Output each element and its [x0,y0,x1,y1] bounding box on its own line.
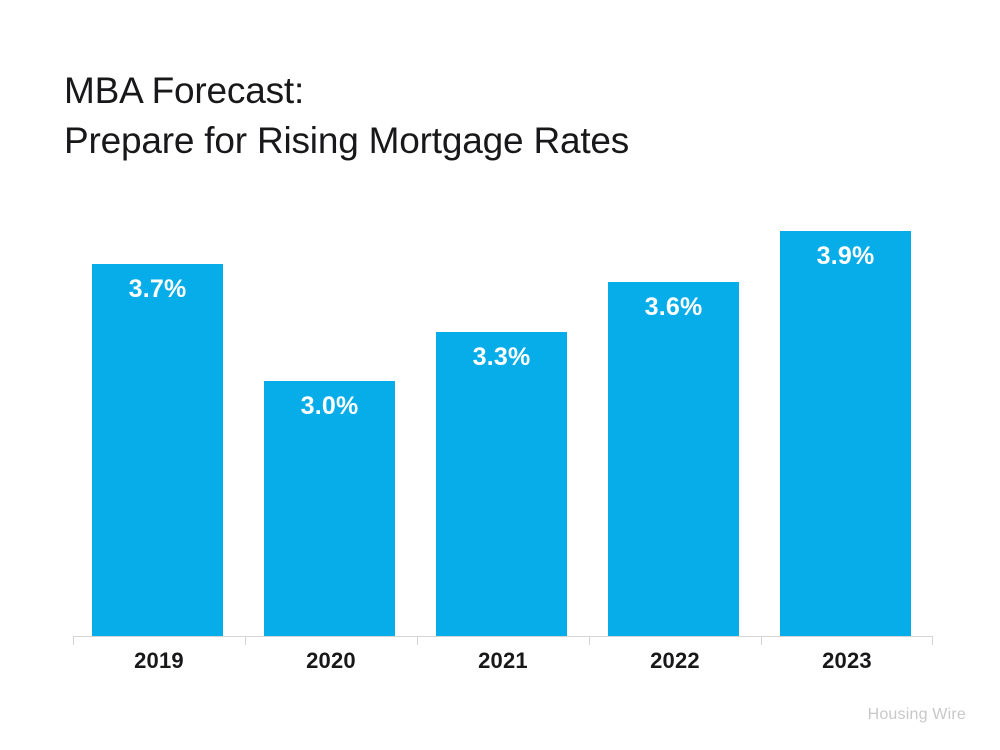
bar-slot-2021: 3.3% [417,200,589,636]
bar-2023[interactable]: 3.9% [780,231,911,636]
bar-slot-2022: 3.6% [589,200,761,636]
bar-value-label-2023: 3.9% [780,242,911,271]
x-tick-label-2022: 2022 [589,648,761,674]
x-axis-tick-4 [761,636,762,645]
bar-slot-2020: 3.0% [245,200,417,636]
source-attribution: Housing Wire [868,706,966,724]
x-axis-tick-3 [589,636,590,645]
x-tick-label-2020: 2020 [245,648,417,674]
bar-slot-2019: 3.7% [73,200,245,636]
bar-value-label-2022: 3.6% [608,293,739,322]
slide-canvas: MBA Forecast: Prepare for Rising Mortgag… [0,0,1000,750]
bar-chart: 3.7% 3.0% 3.3% 3.6% 3.9% [0,0,1000,750]
bar-slot-2023: 3.9% [761,200,933,636]
x-tick-label-2023: 2023 [761,648,933,674]
bar-value-label-2020: 3.0% [264,392,395,421]
bar-value-label-2019: 3.7% [92,275,223,304]
x-tick-label-2021: 2021 [417,648,589,674]
x-axis-line [73,636,933,637]
x-axis-tick-labels: 2019 2020 2021 2022 2023 [73,648,933,682]
bar-2019[interactable]: 3.7% [92,264,223,636]
bar-2020[interactable]: 3.0% [264,381,395,636]
x-tick-label-2019: 2019 [73,648,245,674]
bar-2022[interactable]: 3.6% [608,282,739,636]
x-axis-tick-2 [417,636,418,645]
bar-value-label-2021: 3.3% [436,343,567,372]
x-axis-tick-1 [245,636,246,645]
bar-2021[interactable]: 3.3% [436,332,567,636]
x-axis-tick-5 [932,636,933,645]
x-axis-tick-0 [73,636,74,645]
chart-plot-area: 3.7% 3.0% 3.3% 3.6% 3.9% [73,200,933,636]
